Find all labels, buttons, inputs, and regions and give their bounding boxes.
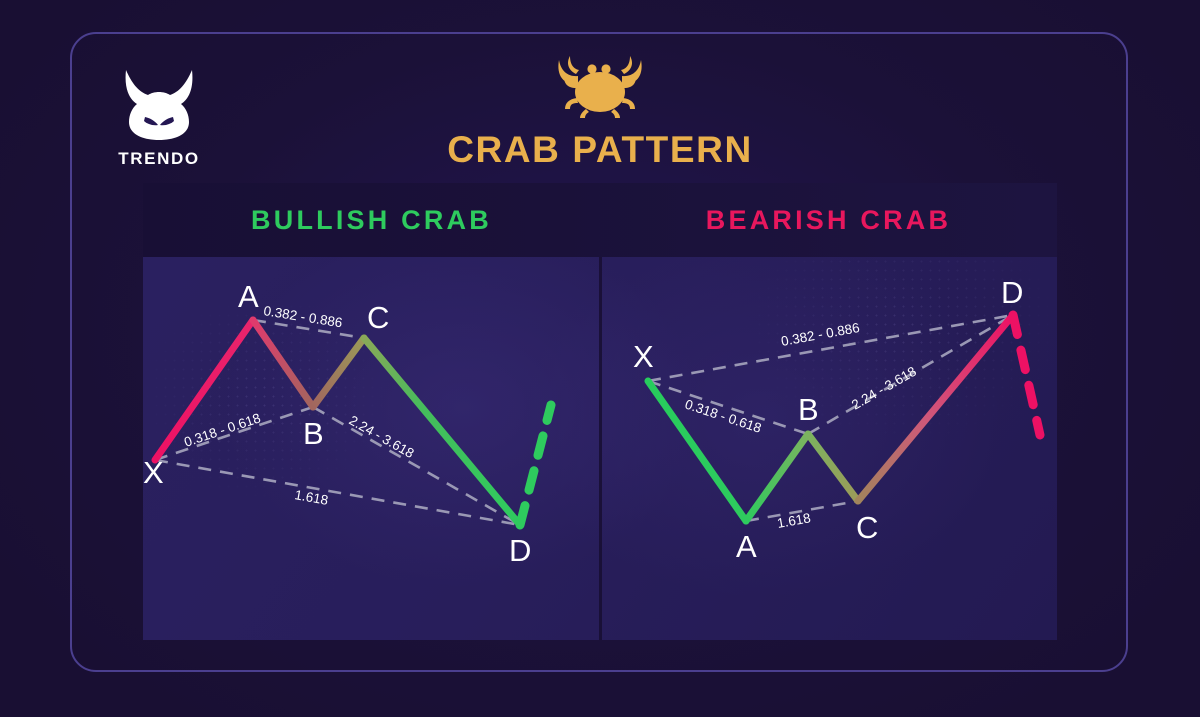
bullish-chart: 0.382 - 0.886 0.318 - 0.618 2.24 - 3.618… — [143, 279, 551, 568]
bullish-header-cell: BULLISH CRAB — [143, 183, 600, 257]
vertex-label-b: B — [798, 392, 819, 427]
crab-icon — [0, 52, 1200, 123]
pattern-diagram: 0.382 - 0.886 0.318 - 0.618 2.24 - 3.618… — [143, 257, 1057, 640]
ratio-label: 1.618 — [776, 510, 812, 531]
leg-cd — [858, 315, 1013, 501]
section-header-band: BULLISH CRAB BEARISH CRAB — [143, 183, 1057, 257]
leg-bc — [808, 434, 858, 501]
bearish-header-cell: BEARISH CRAB — [600, 183, 1057, 257]
vertex-label-x: X — [633, 339, 654, 374]
bullish-title: BULLISH CRAB — [251, 205, 492, 236]
bearish-title: BEARISH CRAB — [706, 205, 951, 236]
ratio-label: 2.24 - 3.618 — [849, 364, 919, 413]
vertex-label-x: X — [143, 455, 164, 490]
leg-ab — [253, 320, 313, 407]
vertex-label-a: A — [238, 279, 259, 314]
guide-xd — [155, 460, 520, 525]
projection-line — [520, 405, 551, 525]
ratio-label: 0.318 - 0.618 — [683, 397, 763, 436]
page-title-block: CRAB PATTERN — [0, 52, 1200, 171]
guide-xb — [648, 381, 808, 434]
bearish-chart: 0.382 - 0.886 0.318 - 0.618 2.24 - 3.618… — [633, 275, 1040, 564]
projection-line — [1013, 315, 1040, 435]
vertex-label-b: B — [303, 416, 324, 451]
charts-panel: 0.382 - 0.886 0.318 - 0.618 2.24 - 3.618… — [143, 257, 1057, 640]
infographic-root: TRENDO — [0, 0, 1200, 717]
vertex-label-c: C — [856, 510, 878, 545]
vertex-label-d: D — [1001, 275, 1023, 310]
leg-bc — [313, 338, 364, 407]
leg-ab — [746, 434, 808, 521]
page-title: CRAB PATTERN — [0, 129, 1200, 171]
ratio-label: 0.382 - 0.886 — [263, 303, 344, 330]
vertex-label-a: A — [736, 529, 757, 564]
ratio-label: 1.618 — [293, 487, 329, 508]
vertex-label-c: C — [367, 300, 389, 335]
ratio-label: 0.318 - 0.618 — [182, 410, 262, 449]
ratio-label: 2.24 - 3.618 — [347, 413, 417, 462]
vertex-label-d: D — [509, 533, 531, 568]
